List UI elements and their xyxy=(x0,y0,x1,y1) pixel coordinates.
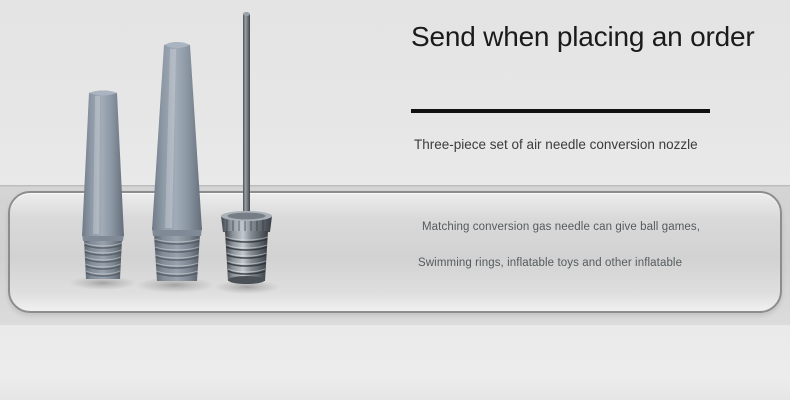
background-bottom-band xyxy=(0,325,790,400)
product-banner: Send when placing an order Three-piece s… xyxy=(0,0,790,400)
title-underline-rule xyxy=(411,109,710,113)
subtitle: Three-piece set of air needle conversion… xyxy=(414,136,754,154)
panel-description-line-1: Matching conversion gas needle can give … xyxy=(422,220,758,234)
panel-description: Matching conversion gas needle can give … xyxy=(418,220,758,271)
page-title: Send when placing an order xyxy=(411,20,771,54)
panel-description-line-2: Swimming rings, inflatable toys and othe… xyxy=(418,256,758,270)
